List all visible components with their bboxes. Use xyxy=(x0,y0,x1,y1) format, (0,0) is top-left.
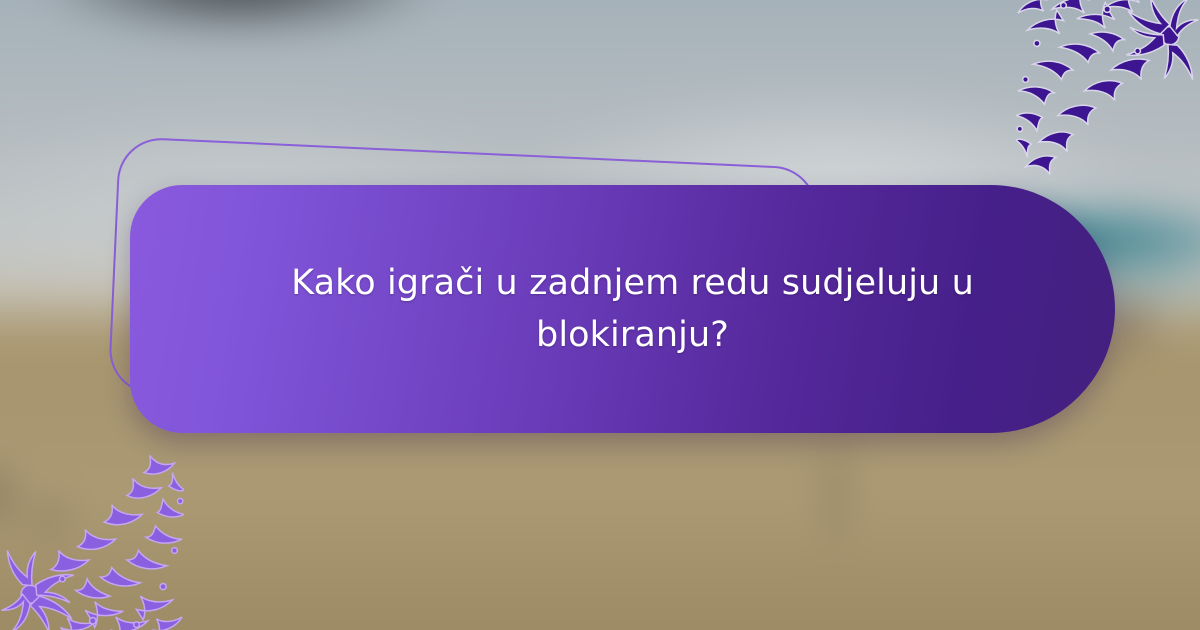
question-card: Kako igrači u zadnjem redu sudjeluju u b… xyxy=(130,185,1115,433)
question-title: Kako igrači u zadnjem redu sudjeluju u b… xyxy=(283,257,983,362)
share-card-canvas: Kako igrači u zadnjem redu sudjeluju u b… xyxy=(0,0,1200,630)
